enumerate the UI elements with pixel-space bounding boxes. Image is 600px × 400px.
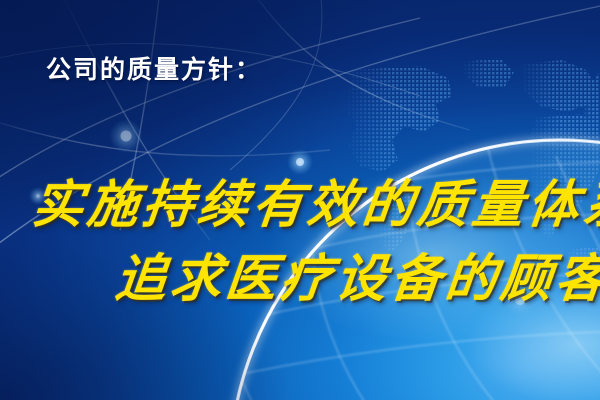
- page-title: 公司的质量方针：: [46, 50, 262, 86]
- banner-canvas: 公司的质量方针： 实施持续有效的质量体系 追求医疗设备的顾客满意: [0, 0, 600, 400]
- slogan-line-2: 追求医疗设备的顾客满意: [112, 237, 600, 311]
- slogan-line-1: 实施持续有效的质量体系: [29, 163, 600, 237]
